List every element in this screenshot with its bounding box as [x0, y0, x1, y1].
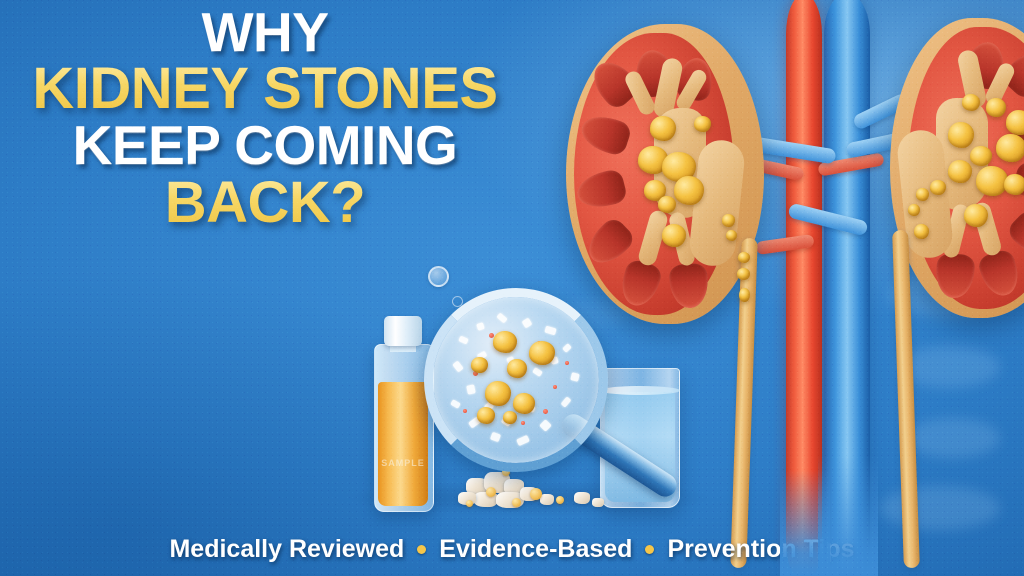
ureter-stone [738, 252, 750, 263]
cava-fade-out [818, 455, 878, 576]
glass-rim [600, 386, 680, 395]
bullet-separator-icon [645, 545, 654, 554]
bottle-cap [384, 316, 422, 346]
headline-line-4: BACK? [0, 175, 530, 231]
left-kidney-cross-section [566, 24, 764, 324]
ureter-stone [739, 288, 750, 302]
water-bubble [452, 296, 463, 307]
headline-line-1: WHY [0, 6, 530, 59]
magnifier-ring [424, 288, 608, 472]
headline-line-3: KEEP COMING [0, 119, 530, 172]
headline-line-2: KIDNEY STONES [0, 61, 530, 117]
thumbnail-canvas: SAMPLE [0, 0, 1024, 576]
ureter-stone [737, 268, 750, 280]
footer-item-evidence-based: Evidence-Based [439, 535, 632, 564]
bullet-separator-icon [417, 545, 426, 554]
urine-fluid [378, 382, 428, 506]
right-kidney-cross-section [890, 18, 1024, 318]
footer-item-medically-reviewed: Medically Reviewed [169, 535, 404, 564]
headline-block: WHY KIDNEY STONES KEEP COMING BACK? [0, 6, 530, 231]
water-droplet [428, 266, 449, 287]
magnifying-glass [424, 288, 608, 472]
